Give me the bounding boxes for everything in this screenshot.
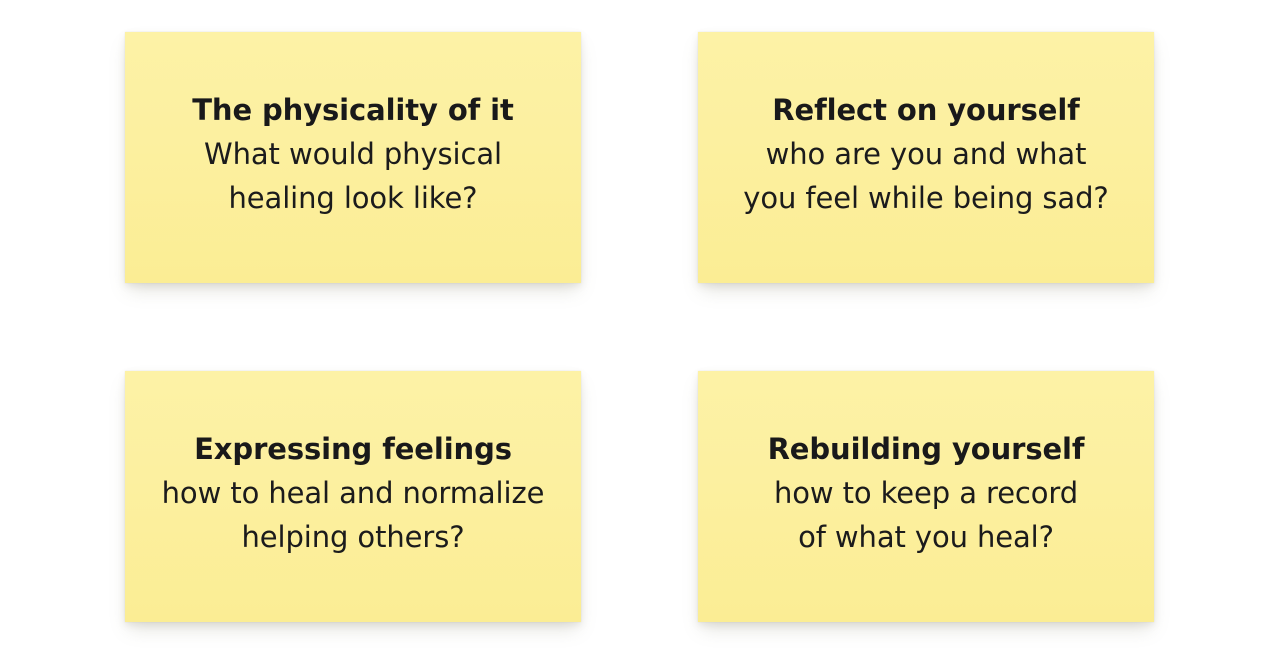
card-title: The physicality of it <box>192 88 514 132</box>
card-title: Rebuilding yourself <box>768 427 1085 471</box>
card-body: What would physical healing look like? <box>204 132 502 220</box>
prompt-card-reflect[interactable]: Reflect on yourself who are you and what… <box>698 32 1154 283</box>
prompt-card-expressing[interactable]: Expressing feelings how to heal and norm… <box>125 371 581 622</box>
card-title: Expressing feelings <box>194 427 512 471</box>
card-title: Reflect on yourself <box>772 88 1079 132</box>
card-body: who are you and what you feel while bein… <box>743 132 1108 220</box>
card-board: The physicality of it What would physica… <box>0 0 1280 665</box>
prompt-card-rebuilding[interactable]: Rebuilding yourself how to keep a record… <box>698 371 1154 622</box>
card-body: how to heal and normalize helping others… <box>162 471 545 559</box>
card-body: how to keep a record of what you heal? <box>774 471 1078 559</box>
prompt-card-physicality[interactable]: The physicality of it What would physica… <box>125 32 581 283</box>
